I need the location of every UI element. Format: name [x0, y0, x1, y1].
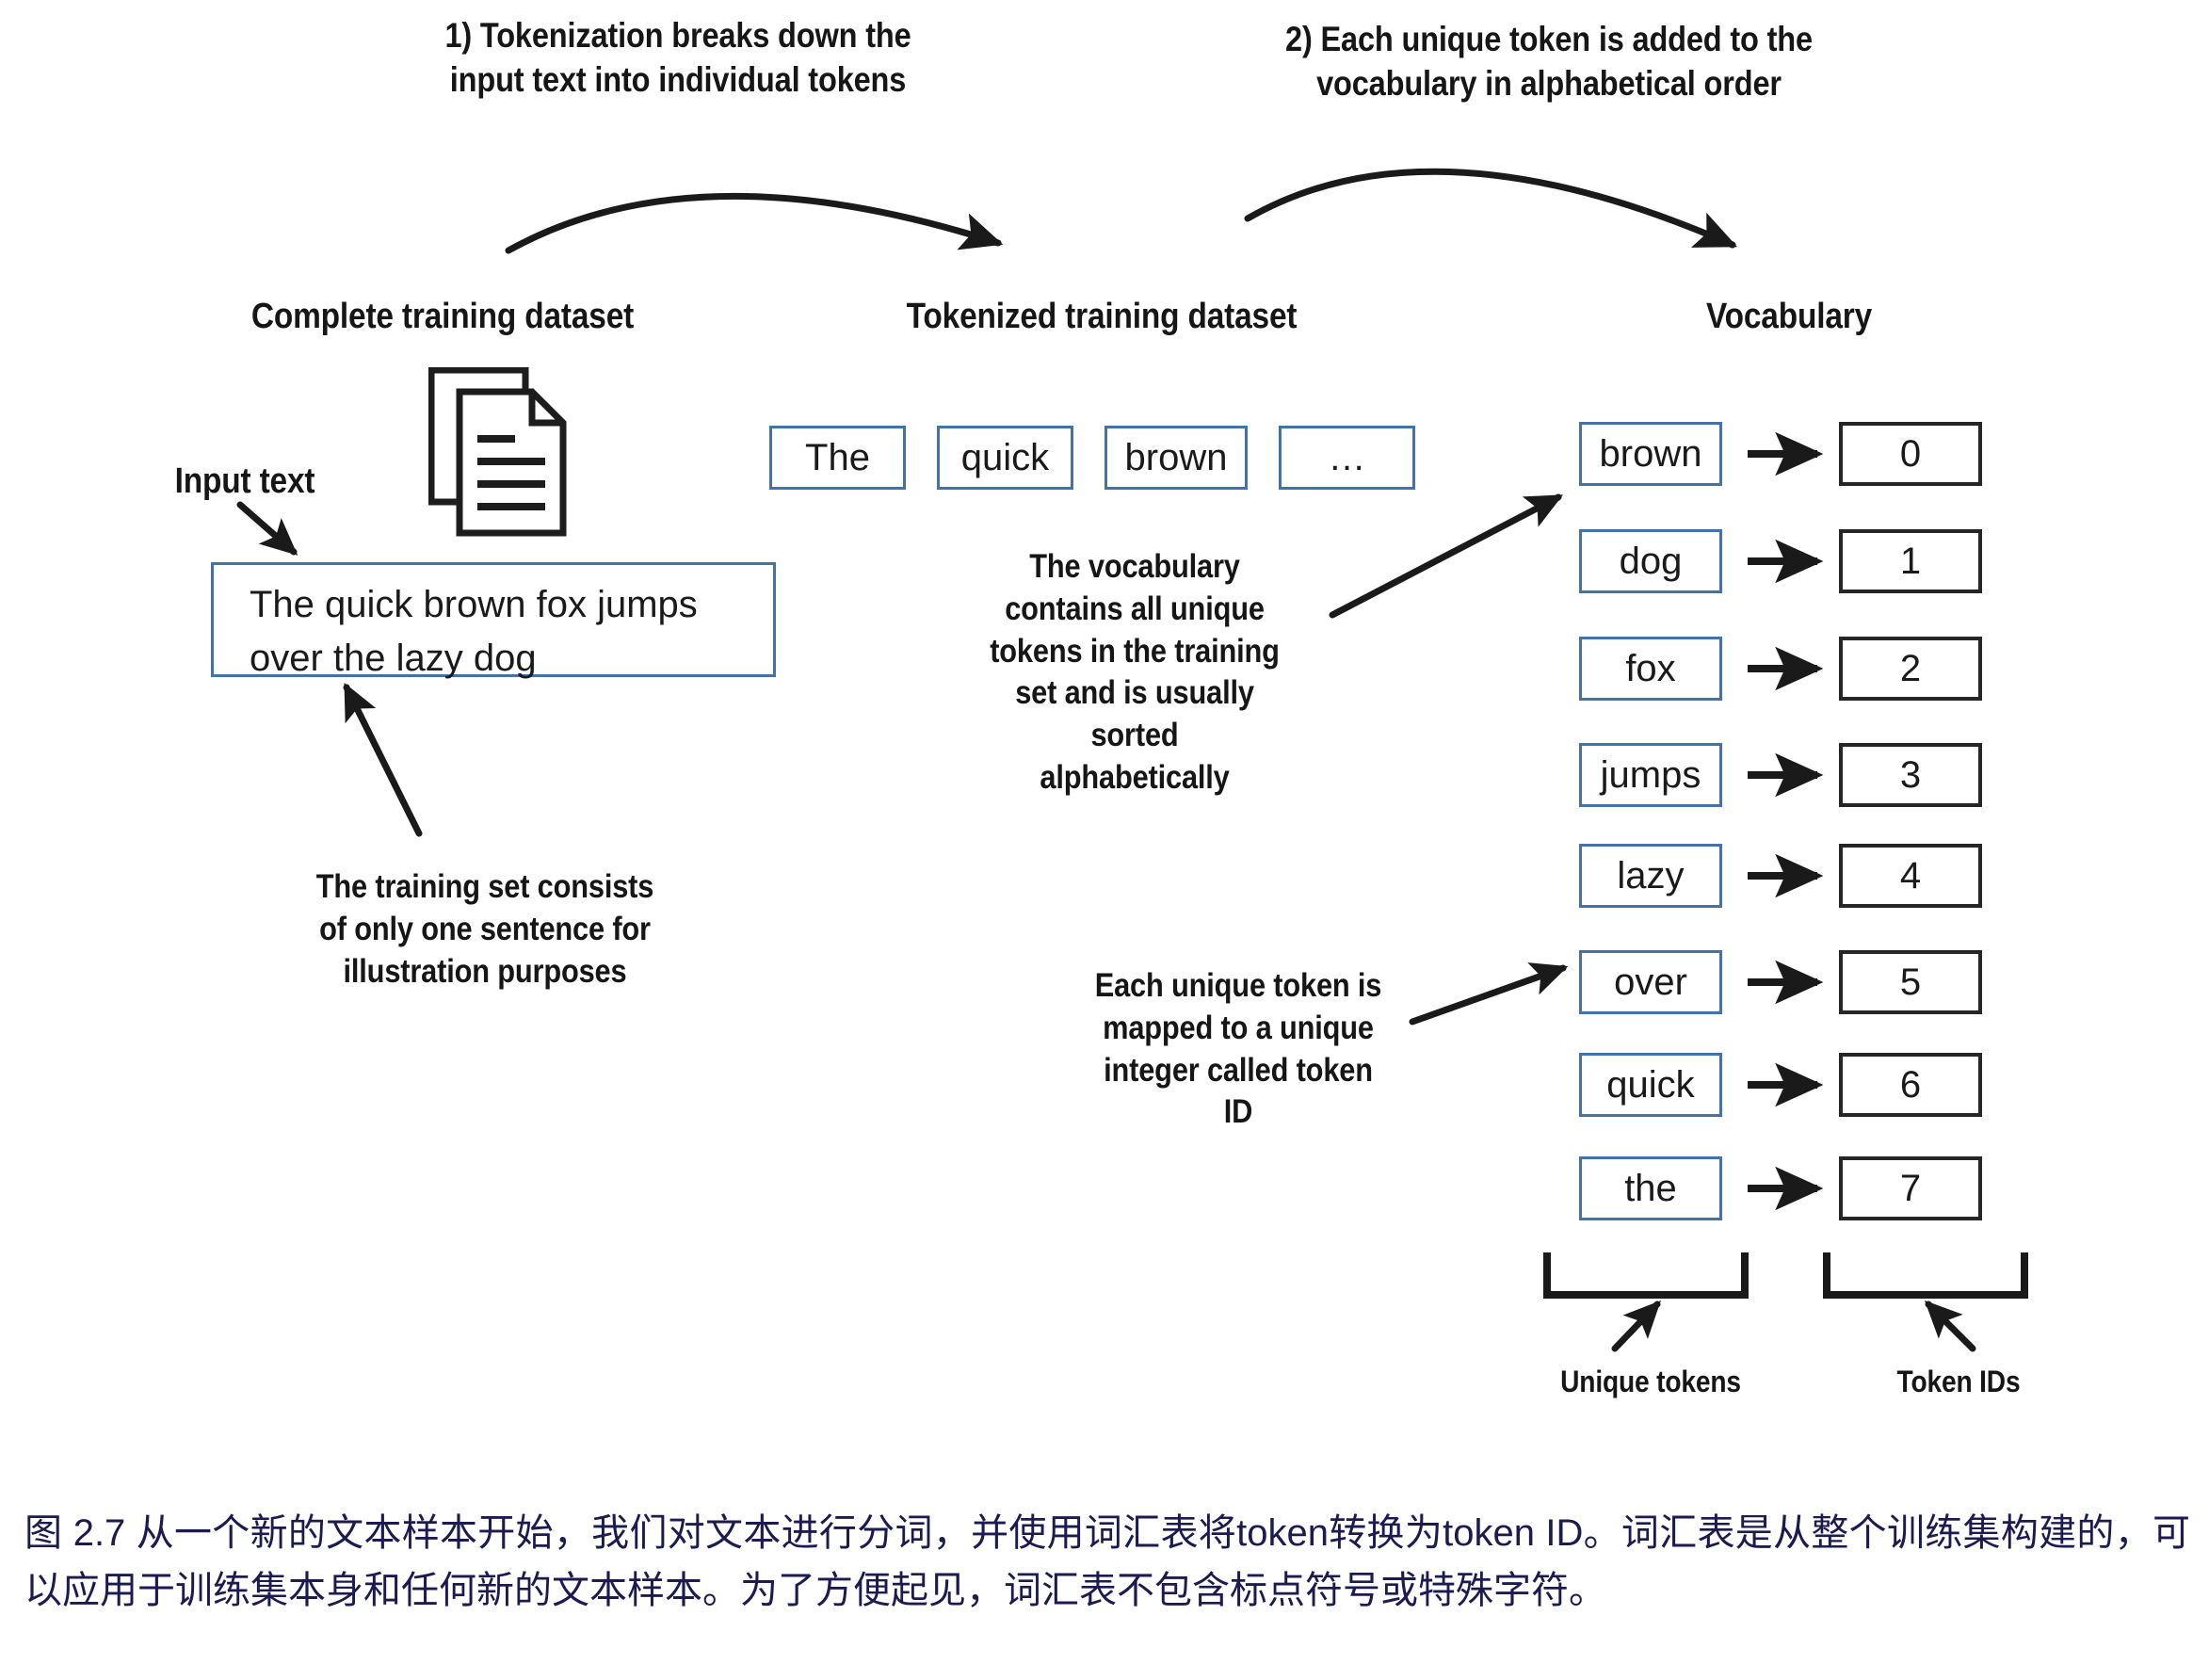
connector-overlay	[0, 0, 2209, 1680]
input-text-label: Input text	[145, 459, 344, 505]
token-id-note: Each unique token is mapped to a unique …	[1081, 965, 1395, 1134]
heading-vocabulary: Vocabulary	[1623, 294, 1955, 340]
input-text-box[interactable]: The quick brown fox jumps over the lazy …	[211, 562, 776, 677]
vocabulary-note: The vocabulary contains all unique token…	[965, 546, 1305, 800]
vocab-id-box-7[interactable]: 7	[1839, 1156, 1982, 1220]
step-2-label: 2) Each unique token is added to the voc…	[1221, 17, 1876, 106]
input-text-pointer-arrow	[240, 505, 294, 552]
vocab-id-box-2[interactable]: 2	[1839, 637, 1982, 701]
heading-tokenized-training-dataset: Tokenized training dataset	[845, 294, 1359, 340]
vocabulary-note-arrow	[1332, 497, 1558, 615]
token-ids-bracket	[1827, 1252, 2024, 1349]
token-box-0[interactable]: The	[769, 426, 906, 490]
vocab-id-box-3[interactable]: 3	[1839, 743, 1982, 807]
figure-canvas: 1) Tokenization breaks down the input te…	[0, 0, 2209, 1680]
vocab-token-box-2[interactable]: fox	[1579, 637, 1722, 701]
unique-tokens-label: Unique tokens	[1502, 1363, 1800, 1401]
vocab-token-box-1[interactable]: dog	[1579, 529, 1722, 593]
token-ids-label: Token IDs	[1830, 1363, 2088, 1401]
token-box-1[interactable]: quick	[937, 426, 1073, 490]
token-box-2[interactable]: brown	[1104, 426, 1248, 490]
heading-complete-training-dataset: Complete training dataset	[185, 294, 700, 340]
vocab-token-box-7[interactable]: the	[1579, 1156, 1722, 1220]
vocab-token-box-5[interactable]: over	[1579, 950, 1722, 1014]
vocab-token-box-4[interactable]: lazy	[1579, 844, 1722, 908]
vocab-token-box-0[interactable]: brown	[1579, 422, 1722, 486]
step-1-label: 1) Tokenization breaks down the input te…	[396, 13, 959, 103]
training-set-note: The training set consists of only one se…	[282, 866, 687, 993]
vocab-token-box-6[interactable]: quick	[1579, 1053, 1722, 1117]
vocab-id-box-6[interactable]: 6	[1839, 1053, 1982, 1117]
vocab-id-box-1[interactable]: 1	[1839, 529, 1982, 593]
curved-arrow-vocabulary	[1248, 171, 1733, 245]
vocab-token-box-3[interactable]: jumps	[1579, 743, 1722, 807]
vocab-id-box-4[interactable]: 4	[1839, 844, 1982, 908]
vocab-id-box-0[interactable]: 0	[1839, 422, 1982, 486]
curved-arrow-tokenize	[508, 196, 998, 250]
documents-icon	[428, 367, 570, 537]
training-note-pointer-arrow	[347, 687, 419, 833]
token-id-note-arrow	[1412, 968, 1563, 1022]
figure-caption: 图 2.7 从一个新的文本样本开始，我们对文本进行分词，并使用词汇表将token…	[24, 1505, 2190, 1620]
token-box-3[interactable]: …	[1279, 426, 1415, 490]
vocab-id-box-5[interactable]: 5	[1839, 950, 1982, 1014]
unique-tokens-bracket	[1547, 1252, 1745, 1349]
